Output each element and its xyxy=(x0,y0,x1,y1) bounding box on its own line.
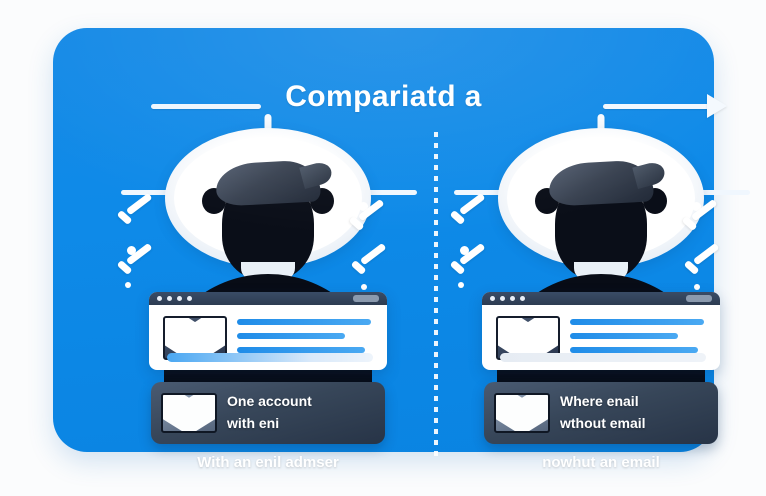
window-dot-icon xyxy=(520,296,525,301)
window-dot-icon xyxy=(500,296,505,301)
window-tab-icon xyxy=(686,295,712,302)
checkmark-icon xyxy=(351,208,385,225)
label-line-1: One account xyxy=(227,391,312,413)
checkmark-dot-icon xyxy=(125,282,131,288)
window-dot-icon xyxy=(167,296,172,301)
window-dot-icon xyxy=(177,296,182,301)
text-line xyxy=(237,319,371,325)
window-dot-icon xyxy=(490,296,495,301)
head-oval-icon xyxy=(498,128,704,268)
browser-window[interactable] xyxy=(149,292,387,370)
label-pill-text: One account with eni xyxy=(227,391,312,434)
caption-left: With an enil admser xyxy=(103,454,433,471)
checkmark-icon xyxy=(119,202,153,219)
checkmark-dot-icon xyxy=(361,284,367,290)
window-dot-icon xyxy=(510,296,515,301)
progress-bar xyxy=(167,353,373,362)
hair-icon xyxy=(548,159,654,206)
text-line xyxy=(570,333,678,339)
caption-right: nowhut an email xyxy=(436,454,766,471)
panel-left: One account with eni With an enil admser xyxy=(103,106,433,478)
label-pill-text: Where enail wthout email xyxy=(560,391,646,434)
hair-icon xyxy=(215,159,321,206)
checkmark-icon xyxy=(452,202,486,219)
checkmark-icon xyxy=(119,252,153,269)
window-dot-icon xyxy=(157,296,162,301)
browser-window[interactable] xyxy=(482,292,720,370)
label-line-2: wthout email xyxy=(560,413,646,435)
envelope-icon xyxy=(161,393,217,433)
envelope-icon xyxy=(494,393,550,433)
comparison-card: Compariatd a xyxy=(53,28,714,452)
label-pill-right[interactable]: Where enail wthout email xyxy=(484,382,718,444)
checkmark-icon xyxy=(686,252,720,269)
window-dot-icon xyxy=(187,296,192,301)
head-oval-icon xyxy=(165,128,371,268)
illustration-canvas: Compariatd a xyxy=(0,0,766,496)
text-line xyxy=(570,319,704,325)
progress-bar xyxy=(500,353,706,362)
label-line-1: Where enail xyxy=(560,391,646,413)
checkmark-icon xyxy=(452,252,486,269)
browser-title-bar xyxy=(482,292,720,305)
checkmark-icon xyxy=(684,208,718,225)
checkmark-dot-icon xyxy=(458,282,464,288)
label-line-2: with eni xyxy=(227,413,312,435)
checkmark-icon xyxy=(353,252,387,269)
window-tab-icon xyxy=(353,295,379,302)
browser-title-bar xyxy=(149,292,387,305)
label-pill-left[interactable]: One account with eni xyxy=(151,382,385,444)
checkmark-dot-icon xyxy=(694,284,700,290)
text-line xyxy=(237,333,345,339)
panel-right: Where enail wthout email nowhut an email xyxy=(436,106,766,478)
